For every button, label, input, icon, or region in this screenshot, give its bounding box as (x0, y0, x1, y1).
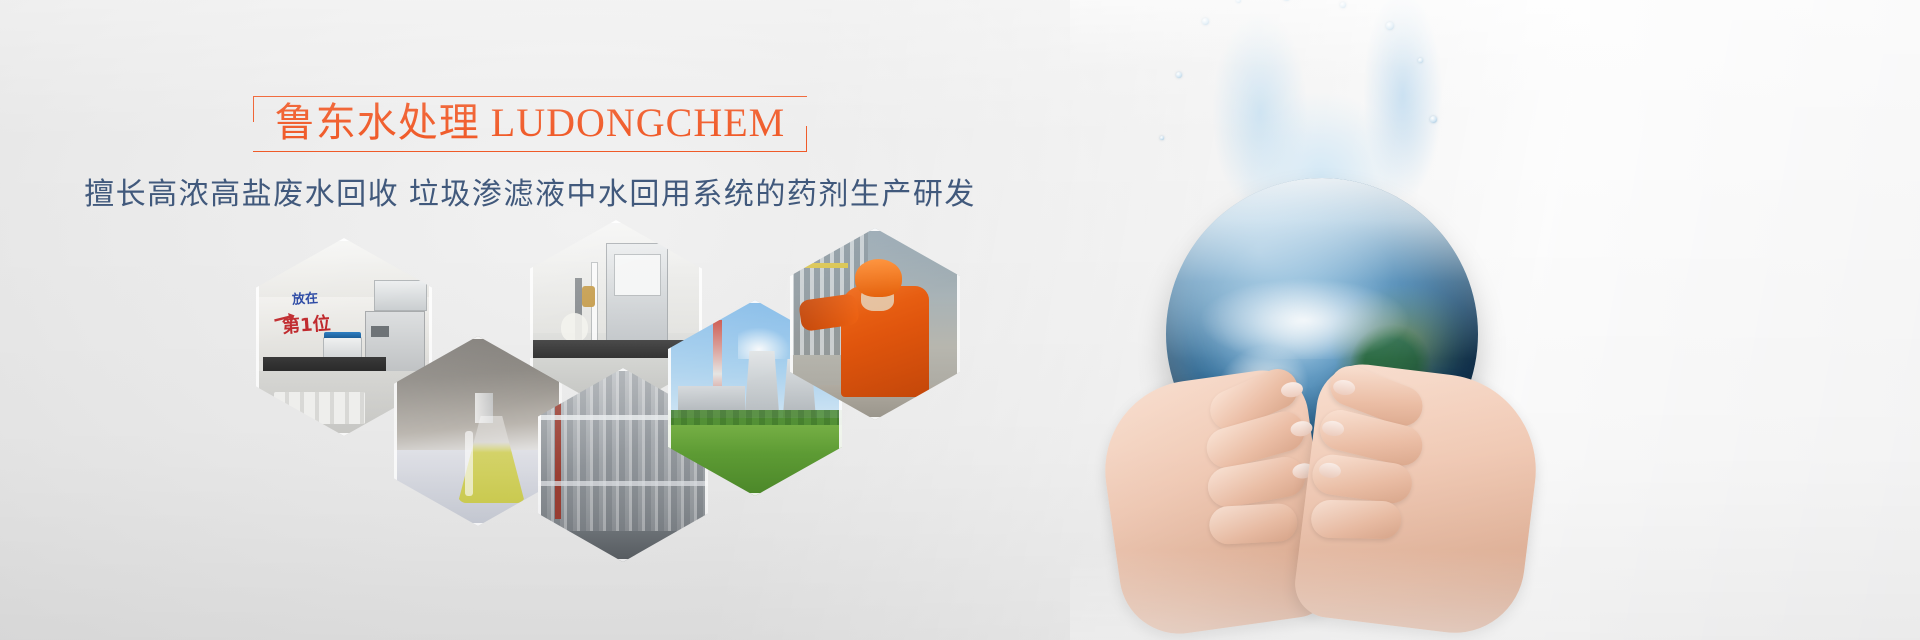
flask-highlight (465, 431, 473, 496)
bracket-top-left (253, 96, 254, 122)
page-title: 鲁东水处理 LUDONGCHEM (275, 102, 785, 144)
right-hand (1291, 359, 1547, 640)
page-subtitle: 擅长高浓高盐废水回收 垃圾渗滤液中水回用系统的药剂生产研发 (0, 169, 1060, 213)
globe-water-surface (1166, 178, 1478, 359)
pipework-floor (538, 531, 708, 562)
headline-block: 鲁东水处理 LUDONGCHEM 擅长高浓高盐废水回收 垃圾渗滤液中水回用系统的… (0, 96, 1060, 213)
water-globe-hero-image (1070, 0, 1590, 640)
slogan-line-2: 第1位 (281, 310, 331, 339)
droplet (1386, 22, 1394, 30)
droplet (1418, 58, 1423, 63)
yellow-pipe-2 (797, 263, 848, 268)
droplet (1340, 2, 1346, 8)
glass-analysis-rack (606, 243, 668, 344)
bracket-bottom-right (806, 126, 807, 152)
yellow-pipe-1 (797, 240, 838, 245)
cooling-tower-1 (745, 351, 780, 418)
finger (1208, 503, 1298, 546)
worker-hard-hat (855, 259, 903, 297)
lab-wall-slogan: 放在 第1位 (277, 288, 358, 339)
title-bracket-frame: 鲁东水处理 LUDONGCHEM (253, 96, 807, 152)
droplet (1202, 18, 1209, 25)
plant-treeline (668, 410, 842, 426)
droplet (1176, 72, 1182, 78)
pipe-rail-lower (538, 481, 708, 486)
bracket-bottom-line (253, 151, 807, 152)
glass-flask (561, 313, 589, 342)
lab-upper-cabinet (374, 280, 427, 312)
finger (1311, 500, 1402, 540)
droplet (1160, 136, 1164, 140)
hero-banner: 鲁东水处理 LUDONGCHEM 擅长高浓高盐废水回收 垃圾渗滤液中水回用系统的… (0, 0, 1920, 640)
glass-amber-bottle (582, 286, 596, 307)
droplet (1430, 116, 1437, 123)
lab-bench (263, 357, 386, 371)
lab-chemical-jugs (274, 392, 366, 424)
slogan-line-1: 放在 (291, 287, 318, 308)
hexagon-gallery: 放在 第1位 (248, 220, 948, 520)
bracket-top-line (253, 96, 807, 97)
